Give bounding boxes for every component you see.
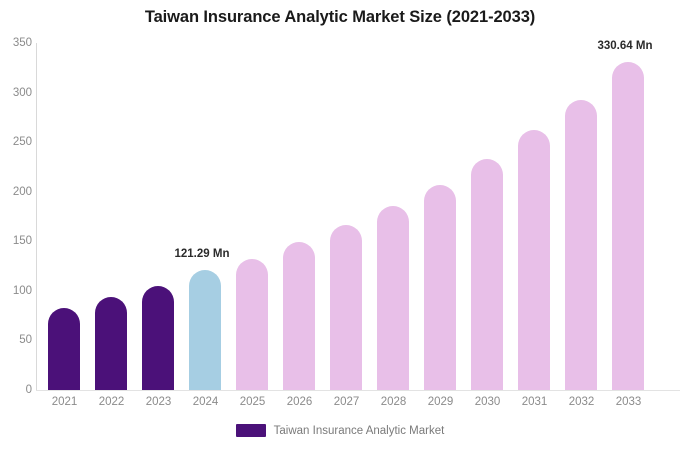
- x-axis-tick-label: 2032: [558, 396, 605, 408]
- bar-2023[interactable]: [142, 286, 174, 390]
- bar-2026[interactable]: [283, 242, 315, 390]
- bar-2031[interactable]: [518, 130, 550, 390]
- bar-2025[interactable]: [236, 259, 268, 390]
- x-axis-tick-label: 2024: [182, 396, 229, 408]
- x-axis-tick-label: 2028: [370, 396, 417, 408]
- chart-legend: Taiwan Insurance Analytic Market: [0, 424, 680, 437]
- bar-2032[interactable]: [565, 100, 597, 390]
- bar-2021[interactable]: [48, 308, 80, 390]
- bar-2029[interactable]: [424, 185, 456, 390]
- bar-slot: [464, 43, 511, 390]
- legend-swatch: [236, 424, 266, 437]
- x-axis-tick-label: 2027: [323, 396, 370, 408]
- bar-chart: Taiwan Insurance Analytic Market Size (2…: [0, 0, 680, 450]
- plot-area: 050100150200250300350 202120222023202420…: [0, 0, 680, 410]
- bar-2022[interactable]: [95, 297, 127, 390]
- bar-2033[interactable]: [612, 62, 644, 390]
- x-axis-tick-label: 2021: [41, 396, 88, 408]
- bar-slot: [323, 43, 370, 390]
- x-axis-tick-label: 2022: [88, 396, 135, 408]
- bar-2028[interactable]: [377, 206, 409, 390]
- bar-slot: [417, 43, 464, 390]
- bar-2027[interactable]: [330, 225, 362, 390]
- data-label-2033: 330.64 Mn: [598, 40, 653, 52]
- bar-slot: [88, 43, 135, 390]
- bar-slot: [605, 43, 652, 390]
- bar-slot: [135, 43, 182, 390]
- x-axis-tick-label: 2025: [229, 396, 276, 408]
- x-axis-tick-label: 2026: [276, 396, 323, 408]
- bar-slot: [229, 43, 276, 390]
- bars-layer: 2021202220232024202520262027202820292030…: [0, 0, 680, 410]
- bar-slot: [182, 43, 229, 390]
- bar-slot: [276, 43, 323, 390]
- legend-label[interactable]: Taiwan Insurance Analytic Market: [274, 425, 445, 437]
- bar-slot: [41, 43, 88, 390]
- bar-2030[interactable]: [471, 159, 503, 390]
- bar-slot: [370, 43, 417, 390]
- x-axis-tick-label: 2030: [464, 396, 511, 408]
- x-axis-tick-label: 2029: [417, 396, 464, 408]
- bar-2024[interactable]: [189, 270, 221, 390]
- data-label-2024: 121.29 Mn: [175, 248, 230, 260]
- x-axis-tick-label: 2023: [135, 396, 182, 408]
- x-axis-tick-label: 2033: [605, 396, 652, 408]
- x-axis-tick-label: 2031: [511, 396, 558, 408]
- bar-slot: [558, 43, 605, 390]
- bar-slot: [511, 43, 558, 390]
